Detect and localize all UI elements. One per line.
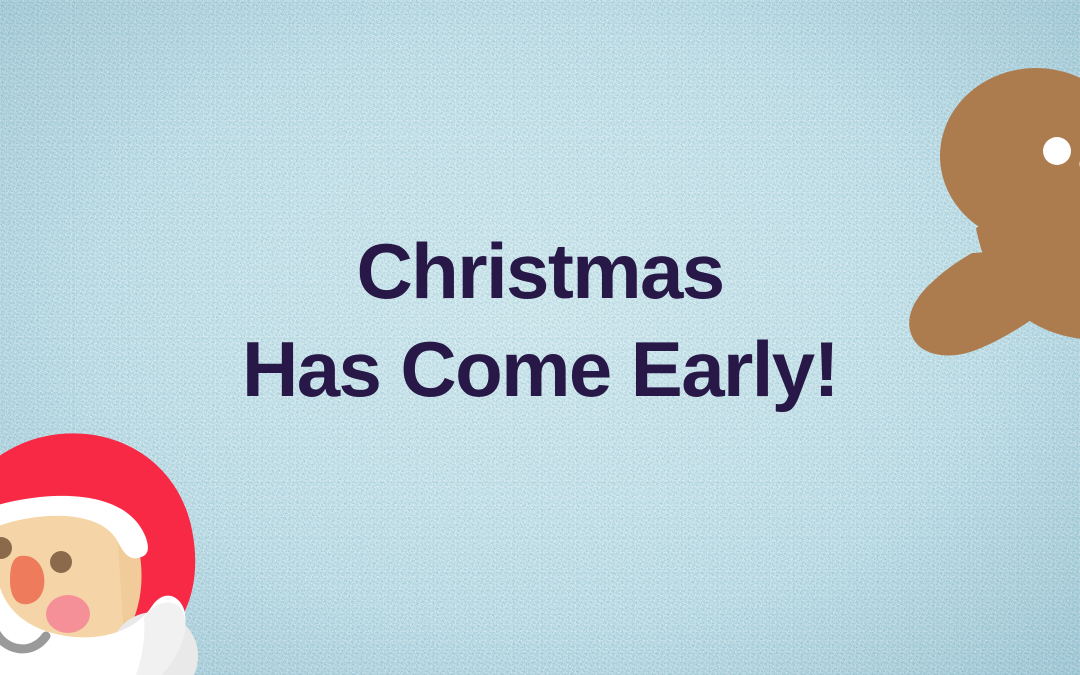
gingerbread-body-group: [909, 68, 1080, 355]
gingerbread-man-illustration: [880, 78, 1080, 378]
santa-figure-group: [0, 433, 198, 675]
santa-eye-right: [50, 551, 72, 573]
santa-illustration: [0, 424, 248, 675]
santa-cheek-right: [46, 595, 90, 633]
poster-canvas: Christmas Has Come Early!: [0, 0, 1080, 675]
gingerbread-eye-left: [1043, 137, 1071, 165]
